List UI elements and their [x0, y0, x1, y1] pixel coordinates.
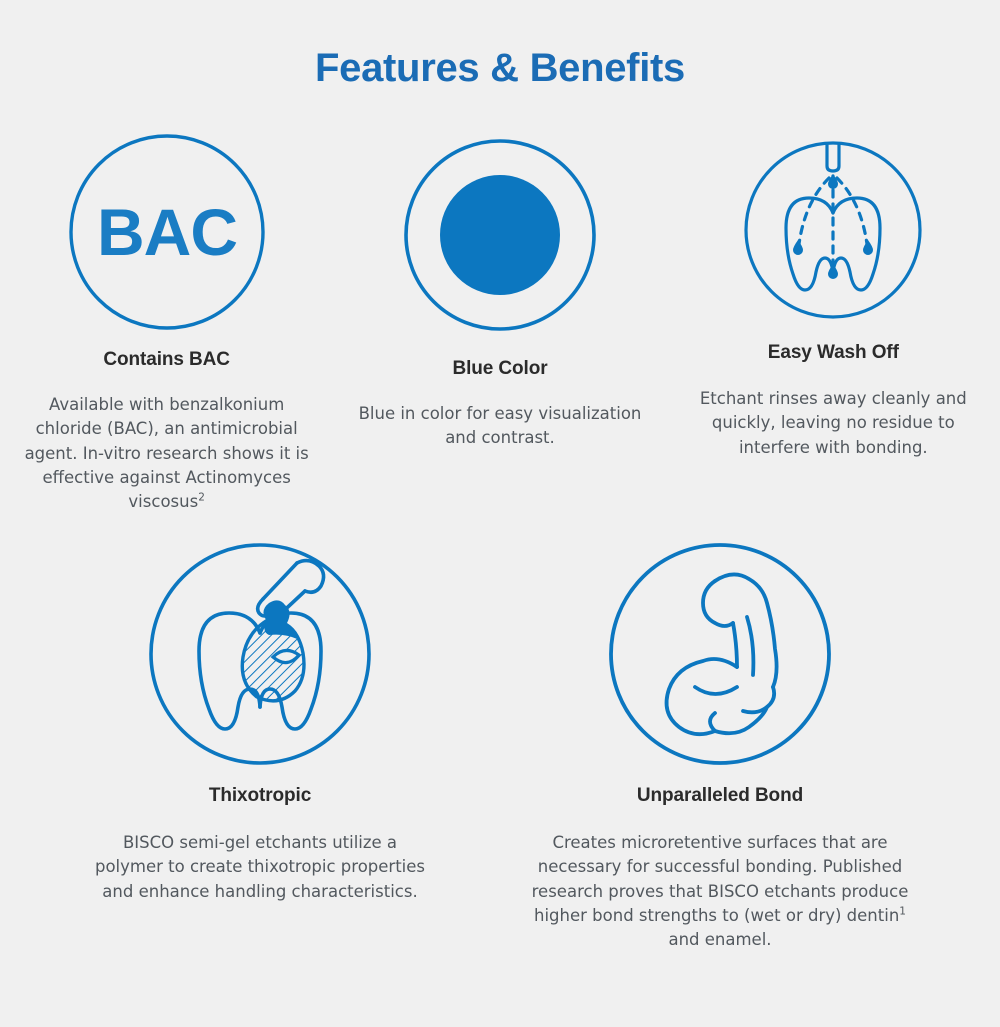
feature-card-thixotropic: Thixotropic BISCO semi-gel etchants util… [30, 541, 490, 953]
feature-description-easy-wash-off: Etchant rinses away cleanly and quickly,… [683, 387, 983, 460]
feature-description-thixotropic: BISCO semi-gel etchants utilize a polyme… [88, 831, 432, 904]
filled-blue-circle-icon [402, 135, 598, 335]
feature-heading-thixotropic: Thixotropic [209, 785, 311, 807]
description-text-part1: Creates microretentive surfaces that are… [532, 833, 909, 925]
feature-description-blue-color: Blue in color for easy visualization and… [344, 402, 656, 451]
feature-row-bottom: Thixotropic BISCO semi-gel etchants util… [0, 541, 1000, 953]
feature-heading-contains-bac: Contains BAC [103, 349, 230, 371]
footnote-marker: 1 [899, 906, 906, 918]
feature-description-contains-bac: Available with benzalkonium chloride (BA… [17, 393, 317, 515]
feature-row-top: BAC Contains BAC Available with benzalko… [0, 132, 1000, 515]
features-benefits-page: Features & Benefits BAC Contains BAC Ava… [0, 27, 1000, 1027]
feature-heading-blue-color: Blue Color [452, 358, 547, 380]
svg-text:BAC: BAC [97, 195, 237, 269]
feature-card-easy-wash-off: Easy Wash Off Etchant rinses away cleanl… [667, 132, 1000, 515]
bac-circle-icon: BAC [67, 132, 267, 332]
feature-card-unparalleled-bond: Unparalleled Bond Creates microretentive… [490, 541, 950, 953]
feature-card-contains-bac: BAC Contains BAC Available with benzalko… [0, 132, 333, 515]
feature-card-blue-color: Blue Color Blue in color for easy visual… [333, 132, 666, 515]
feature-heading-unparalleled-bond: Unparalleled Bond [637, 785, 803, 807]
footnote-marker: 2 [198, 492, 205, 504]
tooth-etchant-applicator-icon [147, 541, 373, 767]
tooth-water-spray-icon [743, 130, 923, 330]
page-title: Features & Benefits [0, 27, 1000, 90]
feature-heading-easy-wash-off: Easy Wash Off [768, 342, 899, 364]
description-text-part2: and enamel. [668, 930, 771, 949]
description-text: Available with benzalkonium chloride (BA… [25, 395, 309, 512]
feature-description-unparalleled-bond: Creates microretentive surfaces that are… [530, 831, 910, 953]
flexed-bicep-icon [607, 541, 833, 767]
